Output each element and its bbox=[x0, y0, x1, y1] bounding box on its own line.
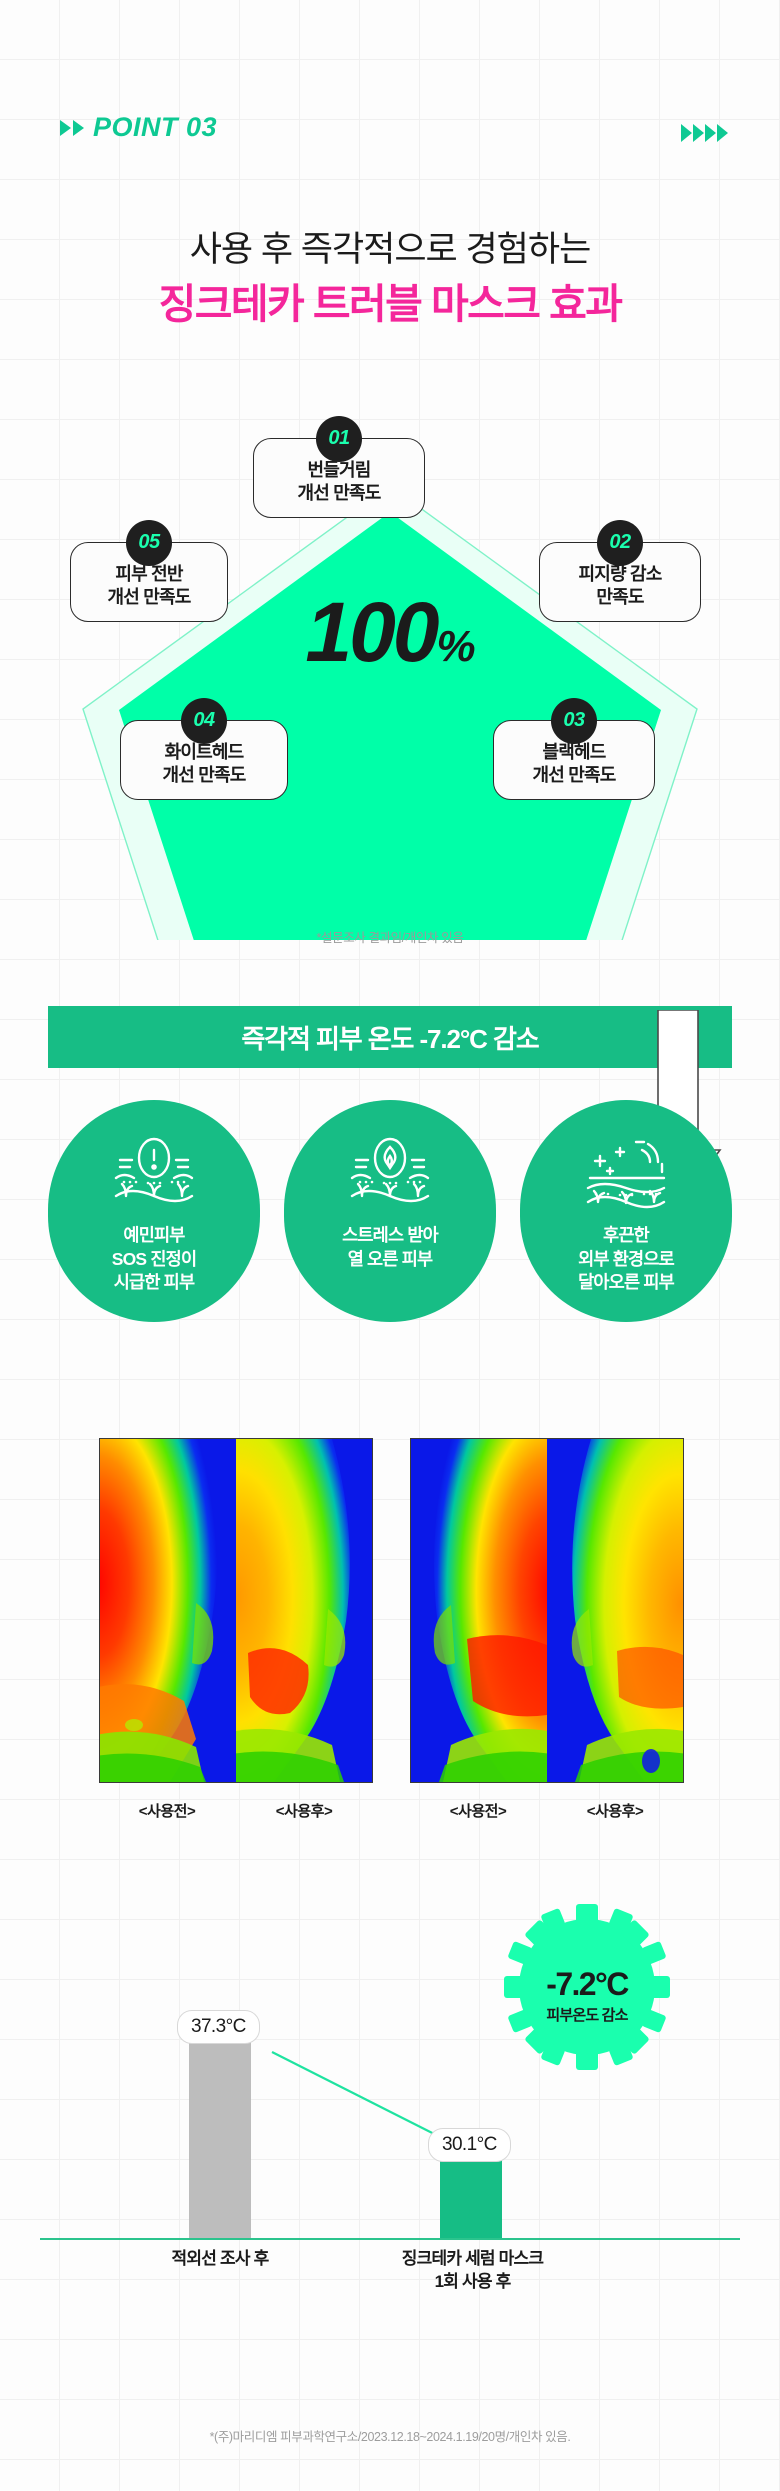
bar-after-value: 30.1°C bbox=[428, 2128, 511, 2162]
thermal-panel-before-2 bbox=[411, 1439, 547, 1782]
pentagon-node-02-badge: 02 bbox=[597, 520, 643, 566]
bar-before-label: 적외선 조사 후 bbox=[140, 2248, 300, 2271]
skin-card-3-line2: 외부 환경으로 bbox=[578, 1248, 674, 1272]
thermal-panel-before-1 bbox=[100, 1439, 236, 1782]
temperature-bar-chart: 37.3°C 30.1°C 적외선 조사 후 징크테카 세럼 마스크 1회 사용… bbox=[40, 1900, 740, 2320]
pentagon-node-03-line2: 개선 만족도 bbox=[506, 764, 642, 787]
skin-card-sensitive: 예민피부 SOS 진정이 시급한 피부 bbox=[48, 1100, 260, 1322]
survey-note: *설문조사 결과임/개인차 있음 bbox=[0, 927, 780, 946]
pentagon-node-02: 02 피지량 감소 만족도 bbox=[539, 542, 701, 622]
bar-before bbox=[189, 2040, 251, 2238]
skin-type-cards: 예민피부 SOS 진정이 시급한 피부 bbox=[48, 1100, 732, 1322]
thermal-pair-1 bbox=[99, 1438, 373, 1783]
skin-card-1-line3: 시급한 피부 bbox=[112, 1271, 197, 1295]
skin-card-1-line2: SOS 진정이 bbox=[112, 1248, 197, 1272]
quad-chevron-right-icon bbox=[681, 124, 728, 142]
reduction-caption: 피부온도 감소 bbox=[502, 2004, 672, 2025]
pentagon-value-unit: % bbox=[437, 622, 475, 671]
skin-card-sensitive-text: 예민피부 SOS 진정이 시급한 피부 bbox=[112, 1224, 197, 1295]
bar-after bbox=[440, 2158, 502, 2238]
pentagon-node-02-line1: 피지량 감소 bbox=[552, 563, 688, 586]
thermal-caption-2: <사용후> bbox=[236, 1800, 372, 1821]
bar-before-value: 37.3°C bbox=[177, 2010, 260, 2044]
pentagon-node-04-line2: 개선 만족도 bbox=[133, 764, 275, 787]
thermal-panel-after-1 bbox=[236, 1439, 372, 1782]
pentagon-node-05-line1: 피부 전반 bbox=[83, 563, 215, 586]
bar-after-label: 징크테카 세럼 마스크 1회 사용 후 bbox=[370, 2248, 575, 2294]
skin-card-environment-heat: 후끈한 외부 환경으로 달아오른 피부 bbox=[520, 1100, 732, 1322]
thermal-caption-1: <사용전> bbox=[99, 1800, 235, 1821]
skin-card-stress-heat-text: 스트레스 받아 열 오른 피부 bbox=[342, 1224, 438, 1271]
pentagon-node-05-badge: 05 bbox=[126, 520, 172, 566]
skin-card-stress-heat: 스트레스 받아 열 오른 피부 bbox=[284, 1100, 496, 1322]
pentagon-node-01-line2: 개선 만족도 bbox=[266, 482, 412, 505]
thermal-caption-3: <사용전> bbox=[410, 1800, 546, 1821]
bar-after-label-line1: 징크테카 세럼 마스크 bbox=[370, 2248, 575, 2271]
pentagon-node-05: 05 피부 전반 개선 만족도 bbox=[70, 542, 228, 622]
skin-card-2-line2: 열 오른 피부 bbox=[342, 1248, 438, 1272]
thermal-image-group bbox=[99, 1438, 682, 1783]
double-chevron-right-icon bbox=[60, 120, 84, 136]
skin-card-3-line1: 후끈한 bbox=[578, 1224, 674, 1248]
infographic-content: POINT 03 사용 후 즉각적으로 경험하는 징크테카 트러블 마스크 효과… bbox=[0, 0, 780, 2491]
footer-note: *(주)마리디엠 피부과학연구소/2023.12.18~2024.1.19/20… bbox=[0, 2426, 780, 2445]
chart-baseline bbox=[40, 2238, 740, 2240]
headline-line-1: 사용 후 즉각적으로 경험하는 bbox=[0, 228, 780, 272]
pentagon-node-04: 04 화이트헤드 개선 만족도 bbox=[120, 720, 288, 800]
temperature-banner-text: 즉각적 피부 온도 -7.2°C 감소 bbox=[241, 1019, 538, 1056]
reduction-value: -7.2°C bbox=[502, 1966, 672, 2003]
bar-after-label-line2: 1회 사용 후 bbox=[370, 2271, 575, 2294]
page-title: 사용 후 즉각적으로 경험하는 징크테카 트러블 마스크 효과 bbox=[0, 228, 780, 330]
pentagon-node-04-line1: 화이트헤드 bbox=[133, 741, 275, 764]
point-label: POINT 03 bbox=[60, 112, 217, 143]
point-header: POINT 03 bbox=[0, 118, 780, 158]
skin-card-2-line1: 스트레스 받아 bbox=[342, 1224, 438, 1248]
pentagon-node-01-line1: 번들거림 bbox=[266, 459, 412, 482]
pentagon-node-03-line1: 블랙헤드 bbox=[506, 741, 642, 764]
flame-skin-icon bbox=[344, 1134, 436, 1212]
point-label-text: POINT 03 bbox=[93, 112, 217, 143]
pentagon-node-02-line2: 만족도 bbox=[552, 586, 688, 609]
thermal-captions: <사용전> <사용후> <사용전> <사용후> bbox=[99, 1800, 682, 1824]
pentagon-node-04-badge: 04 bbox=[181, 698, 227, 744]
pentagon-node-01-badge: 01 bbox=[316, 416, 362, 462]
skin-card-3-line3: 달아오른 피부 bbox=[578, 1271, 674, 1295]
sun-sparkle-skin-icon bbox=[580, 1134, 672, 1212]
thermal-panel-after-2 bbox=[547, 1439, 683, 1782]
thermal-caption-4: <사용후> bbox=[547, 1800, 683, 1821]
pentagon-node-03-badge: 03 bbox=[551, 698, 597, 744]
pentagon-node-01: 01 번들거림 개선 만족도 bbox=[253, 438, 425, 518]
skin-card-environment-heat-text: 후끈한 외부 환경으로 달아오른 피부 bbox=[578, 1224, 674, 1295]
pentagon-node-03: 03 블랙헤드 개선 만족도 bbox=[493, 720, 655, 800]
alert-skin-icon bbox=[108, 1134, 200, 1212]
headline-line-2: 징크테카 트러블 마스크 효과 bbox=[0, 279, 780, 330]
skin-card-1-line1: 예민피부 bbox=[112, 1224, 197, 1248]
pentagon-chart: 100% 01 번들거림 개선 만족도 02 피지량 감소 만족도 03 블랙헤… bbox=[0, 420, 780, 940]
pentagon-node-05-line2: 개선 만족도 bbox=[83, 586, 215, 609]
pentagon-value-number: 100 bbox=[305, 585, 436, 679]
thermal-pair-2 bbox=[410, 1438, 684, 1783]
